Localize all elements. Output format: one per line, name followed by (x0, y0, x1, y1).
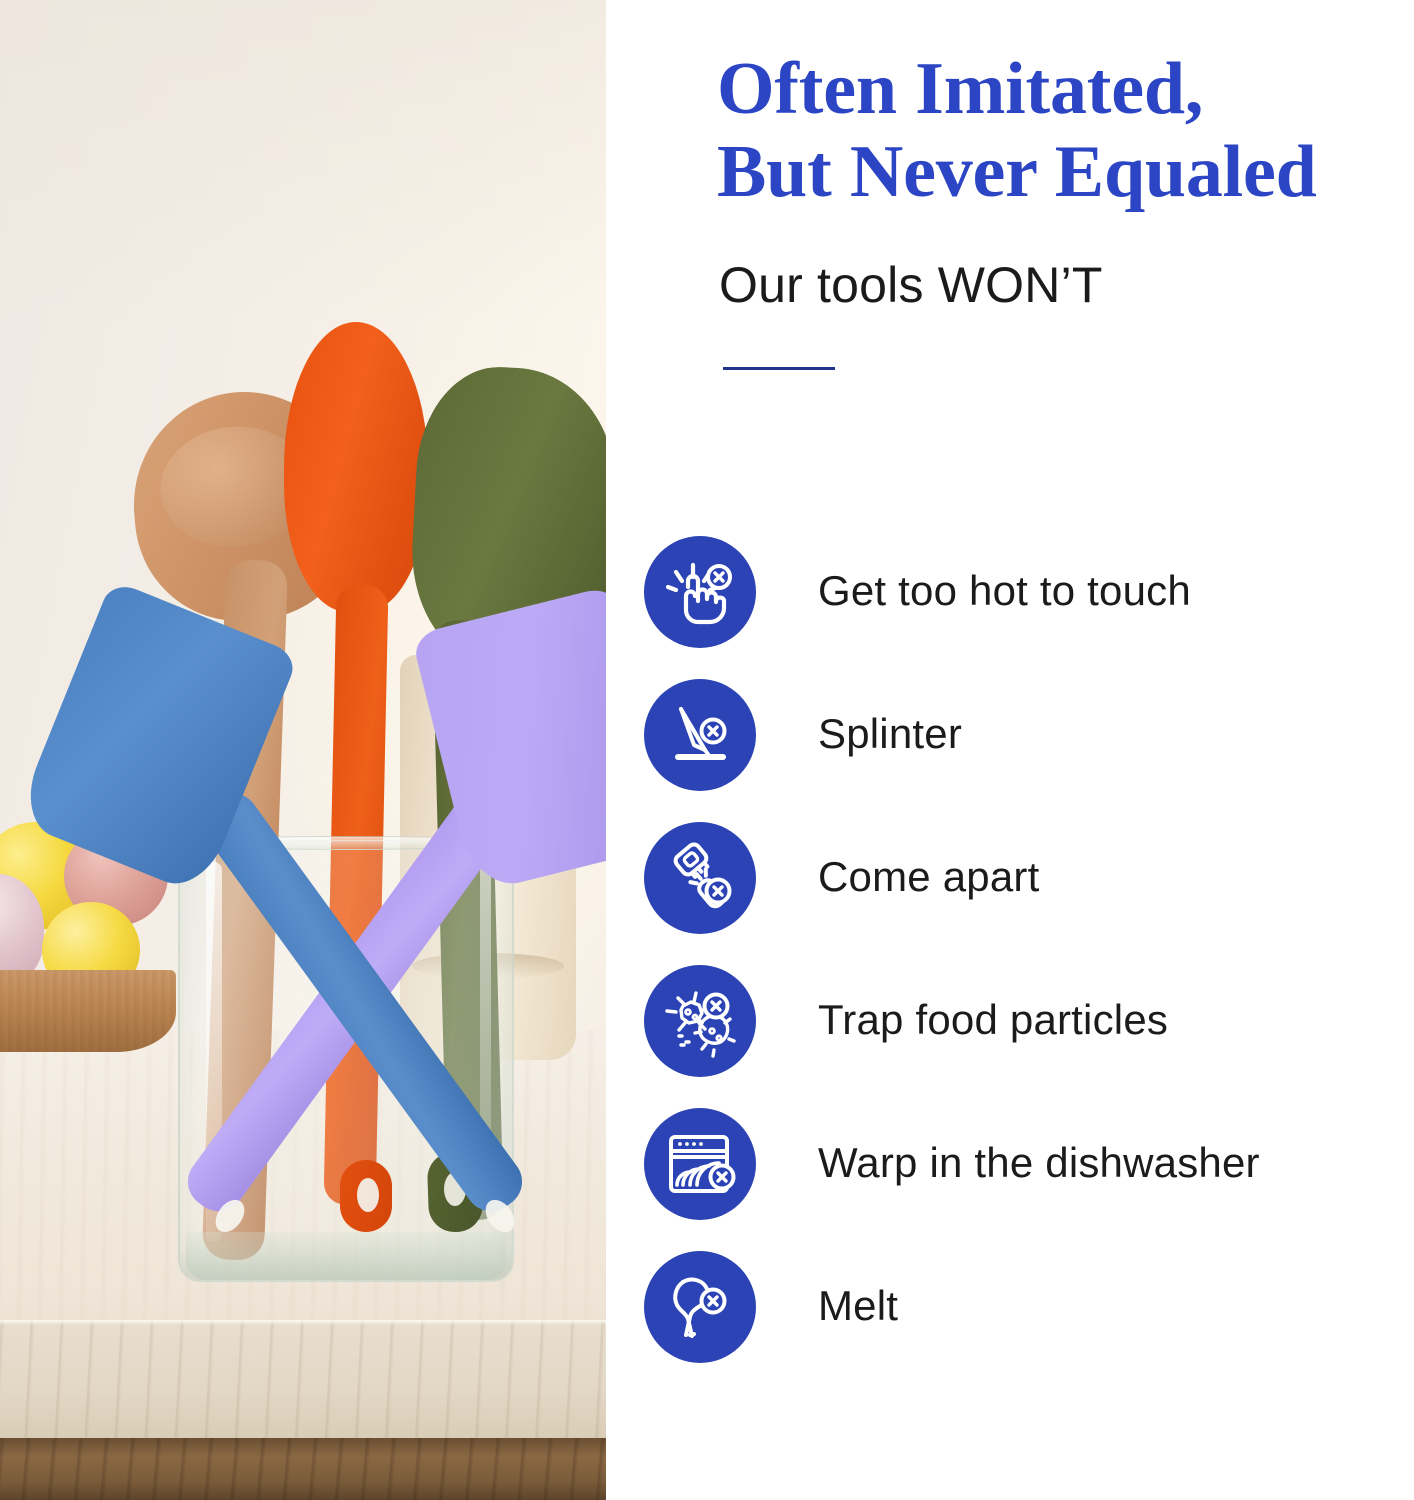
feature-row: Come apart (606, 806, 1414, 949)
photo-counter-under (0, 1438, 606, 1500)
broken-spatula-icon (644, 822, 756, 934)
feature-row: Splinter (606, 663, 1414, 806)
headline-line-1: Often Imitated, (717, 48, 1414, 131)
hand-touch-heat-icon (644, 536, 756, 648)
photo-utensil-blue-spatula (36, 600, 556, 1260)
feature-label: Splinter (818, 711, 962, 757)
dishwasher-icon (644, 1108, 756, 1220)
subheadline: Our tools WON’T (719, 258, 1103, 313)
feature-row: Trap food particles (606, 949, 1414, 1092)
feature-label: Come apart (818, 854, 1039, 900)
photo-utensil-blue-handle (192, 783, 533, 1222)
photo-counter-edge (0, 1320, 606, 1442)
page-title: Often Imitated, But Never Equaled (717, 48, 1414, 214)
splinter-icon (644, 679, 756, 791)
photo-utensil-spoon-head (284, 322, 428, 612)
feature-label: Warp in the dishwasher (818, 1140, 1260, 1186)
melting-spatula-icon (644, 1251, 756, 1363)
feature-label: Melt (818, 1283, 898, 1329)
feature-label: Trap food particles (818, 997, 1168, 1043)
feature-list: Get too hot to touch Splinter (606, 520, 1414, 1378)
feature-row: Warp in the dishwasher (606, 1092, 1414, 1235)
copy-panel: Often Imitated, But Never Equaled Our to… (606, 0, 1414, 1500)
feature-row: Melt (606, 1235, 1414, 1378)
headline-line-2: But Never Equaled (717, 131, 1414, 214)
germs-bacteria-icon (644, 965, 756, 1077)
product-feature-banner: Often Imitated, But Never Equaled Our to… (0, 0, 1414, 1500)
accent-divider (723, 367, 835, 370)
feature-label: Get too hot to touch (818, 568, 1191, 614)
feature-row: Get too hot to touch (606, 520, 1414, 663)
product-photo (0, 0, 606, 1500)
